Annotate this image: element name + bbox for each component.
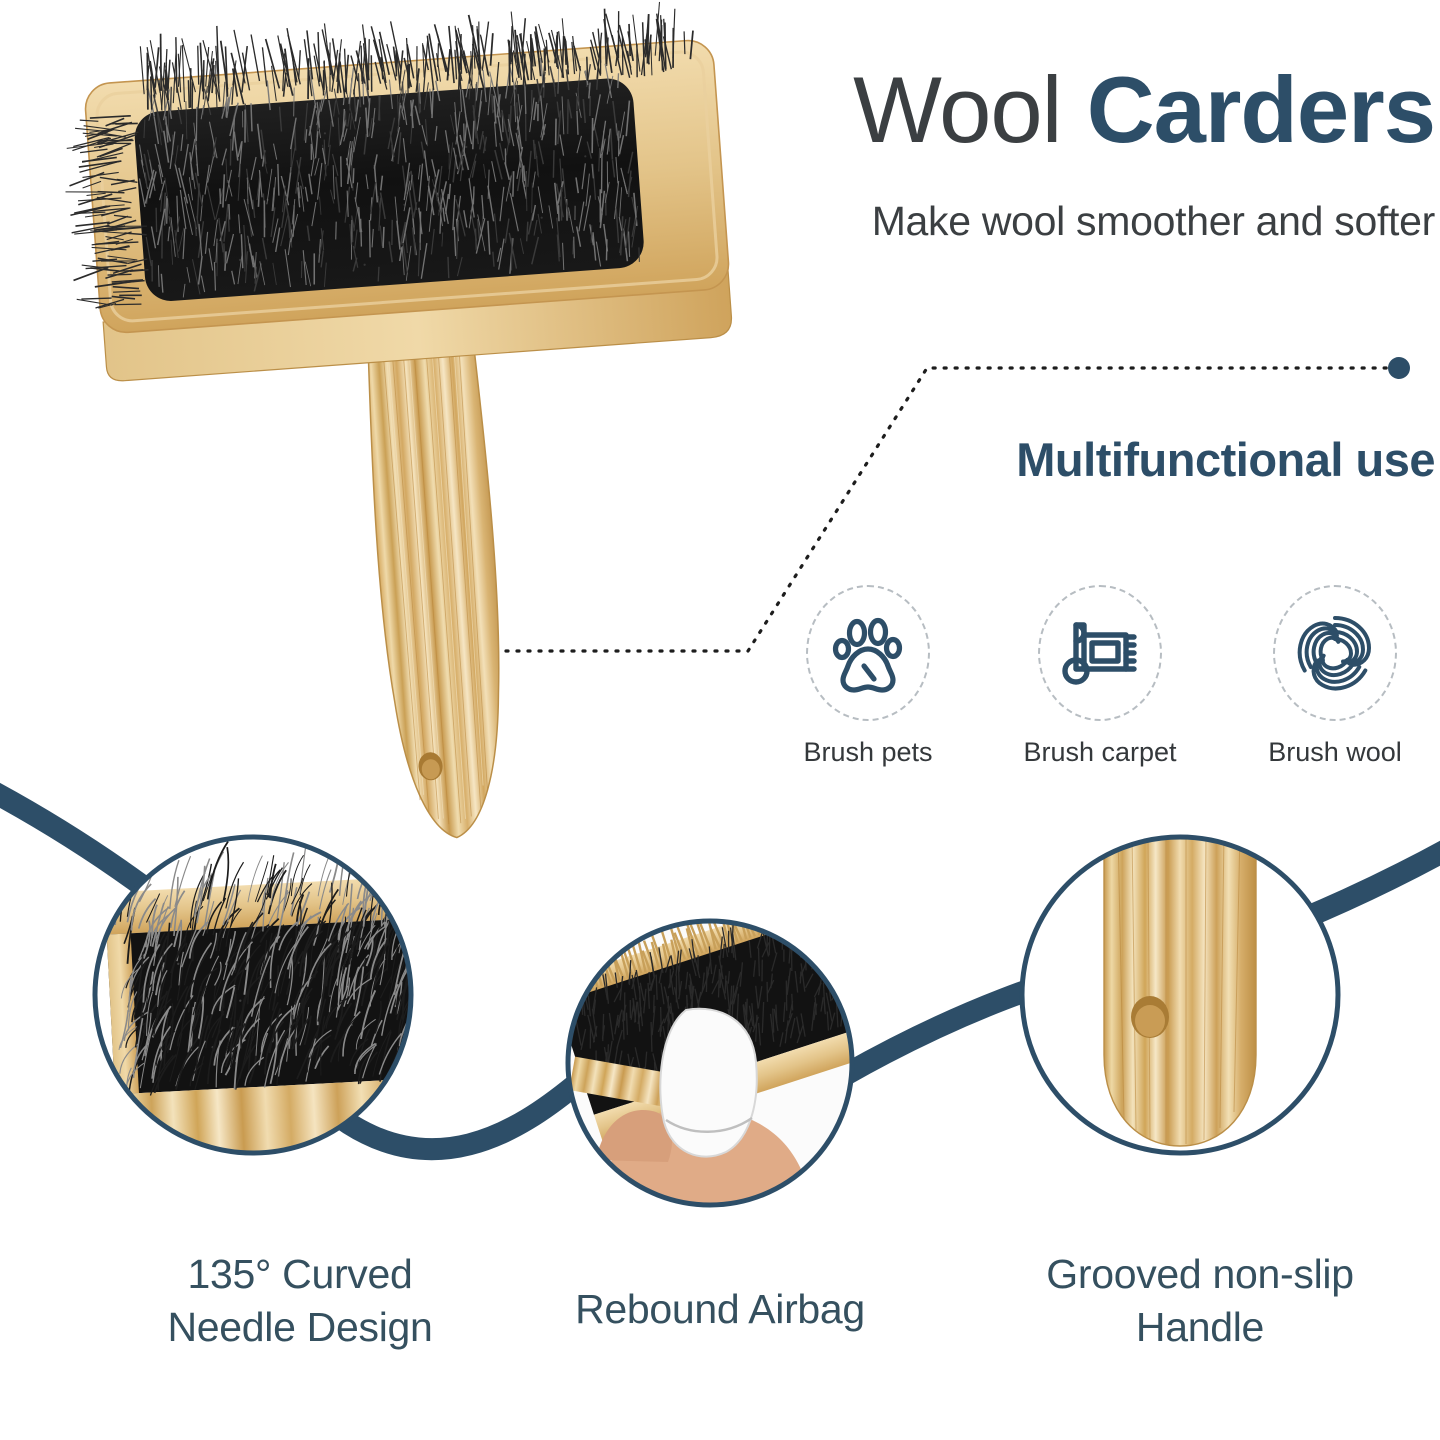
title-part-wool: Wool (853, 57, 1087, 162)
caption-grooved-handle: Grooved non-slip Handle (950, 1248, 1440, 1355)
detail-circle-curved-needles (95, 831, 437, 1164)
title-part-carders: Carders (1087, 57, 1435, 162)
page-subtitle: Make wool smoother and softer (700, 198, 1435, 245)
caption-line-1: Grooved non-slip (950, 1248, 1440, 1301)
paw-print-icon (806, 585, 930, 721)
detail-circle-rebound-airbag (528, 868, 883, 1205)
detail-circle-grooved-handle (1022, 830, 1338, 1153)
caption-rebound-airbag: Rebound Airbag (480, 1283, 960, 1336)
multifunctional-title: Multifunctional use (820, 432, 1435, 487)
feature-brush-carpet: Brush carpet (1010, 585, 1190, 768)
page-title: Wool Carders (745, 62, 1435, 158)
feature-brush-wool: Brush wool (1245, 585, 1425, 768)
caption-line-1: 135° Curved (60, 1248, 540, 1301)
carpet-rug-icon (1038, 585, 1162, 721)
infographic-canvas: Wool Carders Make wool smoother and soft… (0, 0, 1440, 1440)
feature-label: Brush wool (1245, 737, 1425, 768)
caption-curved-needle: 135° Curved Needle Design (60, 1248, 540, 1355)
feature-label: Brush pets (778, 737, 958, 768)
caption-line-1: Rebound Airbag (480, 1283, 960, 1336)
wool-yarn-icon (1273, 585, 1397, 721)
feature-brush-pets: Brush pets (778, 585, 958, 768)
feature-label: Brush carpet (1010, 737, 1190, 768)
brush-handle (362, 325, 515, 842)
brush-head (54, 0, 734, 384)
caption-line-2: Needle Design (60, 1301, 540, 1354)
callout-dot-end (1388, 357, 1410, 379)
caption-line-2: Handle (950, 1301, 1440, 1354)
product-brush-main (54, 0, 769, 863)
